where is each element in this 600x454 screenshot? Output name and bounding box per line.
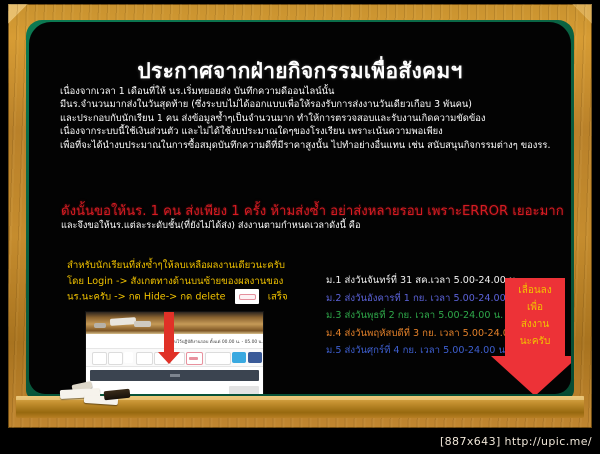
arrow-head bbox=[491, 356, 571, 394]
toolbar-button bbox=[205, 352, 231, 365]
announcement-image: ประกาศจากฝ่ายกิจกรรมเพื่อสังคมฯ เนื่องจา… bbox=[0, 0, 600, 454]
hide-delete-button bbox=[186, 352, 203, 365]
body-line: มีนร.จำนวนมากส่งในวันสุดท้าย (ซึ่งระบบไม… bbox=[60, 98, 550, 111]
arrow-label: เลื่อนลง เพื่อ ส่งงาน นะครับ bbox=[505, 282, 565, 350]
howto-instructions: สำหรับนักเรียนที่ส่งซ้ำๆให้ลบเหลือผลงานเ… bbox=[67, 258, 288, 305]
arrow-label-line-3: ส่งงาน bbox=[505, 316, 565, 333]
body-line: เนื่องจากเวลา 1 เดือนที่ให้ นร.เริ่มทยอย… bbox=[60, 85, 550, 98]
howto-line-1: สำหรับนักเรียนที่ส่งซ้ำๆให้ลบเหลือผลงานเ… bbox=[67, 258, 288, 274]
toolbar-button bbox=[108, 352, 123, 365]
chalkboard-surface: ประกาศจากฝ่ายกิจกรรมเพื่อสังคมฯ เนื่องจา… bbox=[29, 22, 571, 394]
photo-object bbox=[110, 317, 136, 326]
schedule-row: ม.1 ส่งวันจันทร์ที่ 31 สค.เวลา 5.00-24.0… bbox=[326, 272, 525, 290]
toolbar-button bbox=[92, 352, 107, 365]
image-credit: [887x643] http://upic.me/ bbox=[0, 435, 592, 448]
schedule-row: ม.3 ส่งวันพุธที่ 2 กย. เวลา 5.00-24.00 น… bbox=[326, 307, 525, 325]
warning-subtext: และจึงขอให้นร.แต่ละระดับชั้น(ที่ยังไม่ได… bbox=[61, 218, 360, 233]
toolbar-button bbox=[124, 352, 133, 363]
submission-schedule-list: ม.1 ส่งวันจันทร์ที่ 31 สค.เวลา 5.00-24.0… bbox=[326, 272, 525, 360]
photo-object bbox=[134, 321, 151, 327]
screenshot-photo-strip bbox=[86, 312, 263, 334]
twitter-icon bbox=[232, 352, 246, 363]
photo-object bbox=[94, 323, 106, 328]
screenshot-caption: เก็บไว้ปฏิบัติงานรอบ ตั้งแต่ 00.00 น. - … bbox=[170, 338, 263, 345]
page-title: ประกาศจากฝ่ายกิจกรรมเพื่อสังคมฯ bbox=[29, 55, 571, 88]
schedule-row: ม.2 ส่งวันอังคารที่ 1 กย. เวลา 5.00-24.0… bbox=[326, 290, 525, 308]
arrow-label-line-2: เพื่อ bbox=[505, 299, 565, 316]
facebook-icon bbox=[248, 352, 262, 363]
howto-line-3: นร.นะครับ -> กด Hide-> กด delete เสร็จ bbox=[67, 289, 288, 305]
arrow-label-line-1: เลื่อนลง bbox=[505, 282, 565, 299]
embedded-browser-screenshot: เก็บไว้ปฏิบัติงานรอบ ตั้งแต่ 00.00 น. - … bbox=[86, 312, 263, 394]
arrow-label-line-4: นะครับ bbox=[505, 333, 565, 350]
body-line: และประกอบกับนักเรียน 1 คน ส่งข้อมูลซ้ำๆเ… bbox=[60, 112, 550, 125]
announcement-body: เนื่องจากเวลา 1 เดือนที่ให้ นร.เริ่มทยอย… bbox=[60, 85, 550, 152]
screenshot-pointer-arrow-icon bbox=[164, 312, 174, 352]
body-line: เพื่อที่จะได้นำงบประมาณในการซื้อสมุดบันท… bbox=[60, 139, 550, 152]
screenshot-dark-bar bbox=[90, 370, 259, 381]
footer-button bbox=[229, 386, 259, 394]
howto-line-3-text: นร.นะครับ -> กด Hide-> กด delete bbox=[67, 292, 226, 303]
body-line: เนื่องจากระบบนี้ใช้เงินส่วนตัว และไม่ได้… bbox=[60, 125, 550, 138]
howto-line-2: โดย Login -> สังเกตทางด้านบนซ้ายของผลงาน… bbox=[67, 274, 288, 290]
howto-line-3-done: เสร็จ bbox=[268, 292, 288, 303]
toolbar-button bbox=[136, 352, 153, 365]
schedule-row: ม.4 ส่งวันพฤหัสบดีที่ 3 กย. เวลา 5.00-24… bbox=[326, 325, 525, 343]
delete-button-icon bbox=[235, 289, 259, 304]
scroll-down-arrow-icon: เลื่อนลง เพื่อ ส่งงาน นะครับ bbox=[505, 278, 565, 394]
